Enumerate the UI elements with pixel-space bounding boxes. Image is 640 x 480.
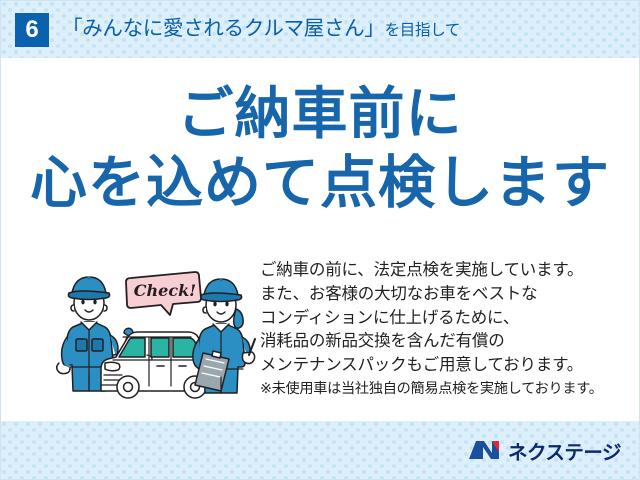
body-line: また、お客様の大切なお車をベストな bbox=[260, 283, 620, 307]
body-line: ご納車の前に、法定点検を実施しています。 bbox=[260, 259, 620, 283]
header-title-suffix: を目指して bbox=[385, 23, 461, 39]
brand-logo: ネクステージ bbox=[468, 437, 621, 463]
headline-line-1: ご納車前に bbox=[1, 85, 639, 144]
right-mechanic-icon bbox=[193, 278, 255, 393]
mechanics-illustration-svg: Check! bbox=[53, 267, 257, 399]
body-line: コンディションに仕上げるために、 bbox=[260, 307, 620, 331]
headline-line-2: 心を込めて点検します bbox=[1, 154, 639, 214]
mechanics-illustration: Check! bbox=[53, 267, 257, 399]
body-footnote: ※未使用車は当社独自の簡易点検を実施しております。 bbox=[260, 379, 620, 400]
body-line: メンテナンスパックもご用意しております。 bbox=[260, 354, 620, 378]
check-bubble-label: Check! bbox=[134, 281, 196, 300]
header-title: 「みんなに愛されるクルマ屋さん」 を目指して bbox=[62, 19, 460, 40]
section-number-badge: 6 bbox=[15, 13, 49, 47]
body-line: 消耗品の新品交換を含んだ有償の bbox=[260, 330, 620, 354]
header: 6 「みんなに愛されるクルマ屋さん」 を目指して bbox=[1, 1, 639, 58]
promo-page: 6 「みんなに愛されるクルマ屋さん」 を目指して ご納車前に 心を込めて点検しま… bbox=[0, 0, 640, 480]
header-title-main: 「みんなに愛されるクルマ屋さん」 bbox=[62, 19, 385, 40]
page-headline: ご納車前に 心を込めて点検します bbox=[1, 85, 639, 214]
body-copy: ご納車の前に、法定点検を実施しています。 また、お客様の大切なお車をベストな コ… bbox=[260, 259, 620, 400]
brand-logo-text: ネクステージ bbox=[508, 436, 621, 465]
nexstage-n-logo-icon bbox=[468, 438, 501, 462]
